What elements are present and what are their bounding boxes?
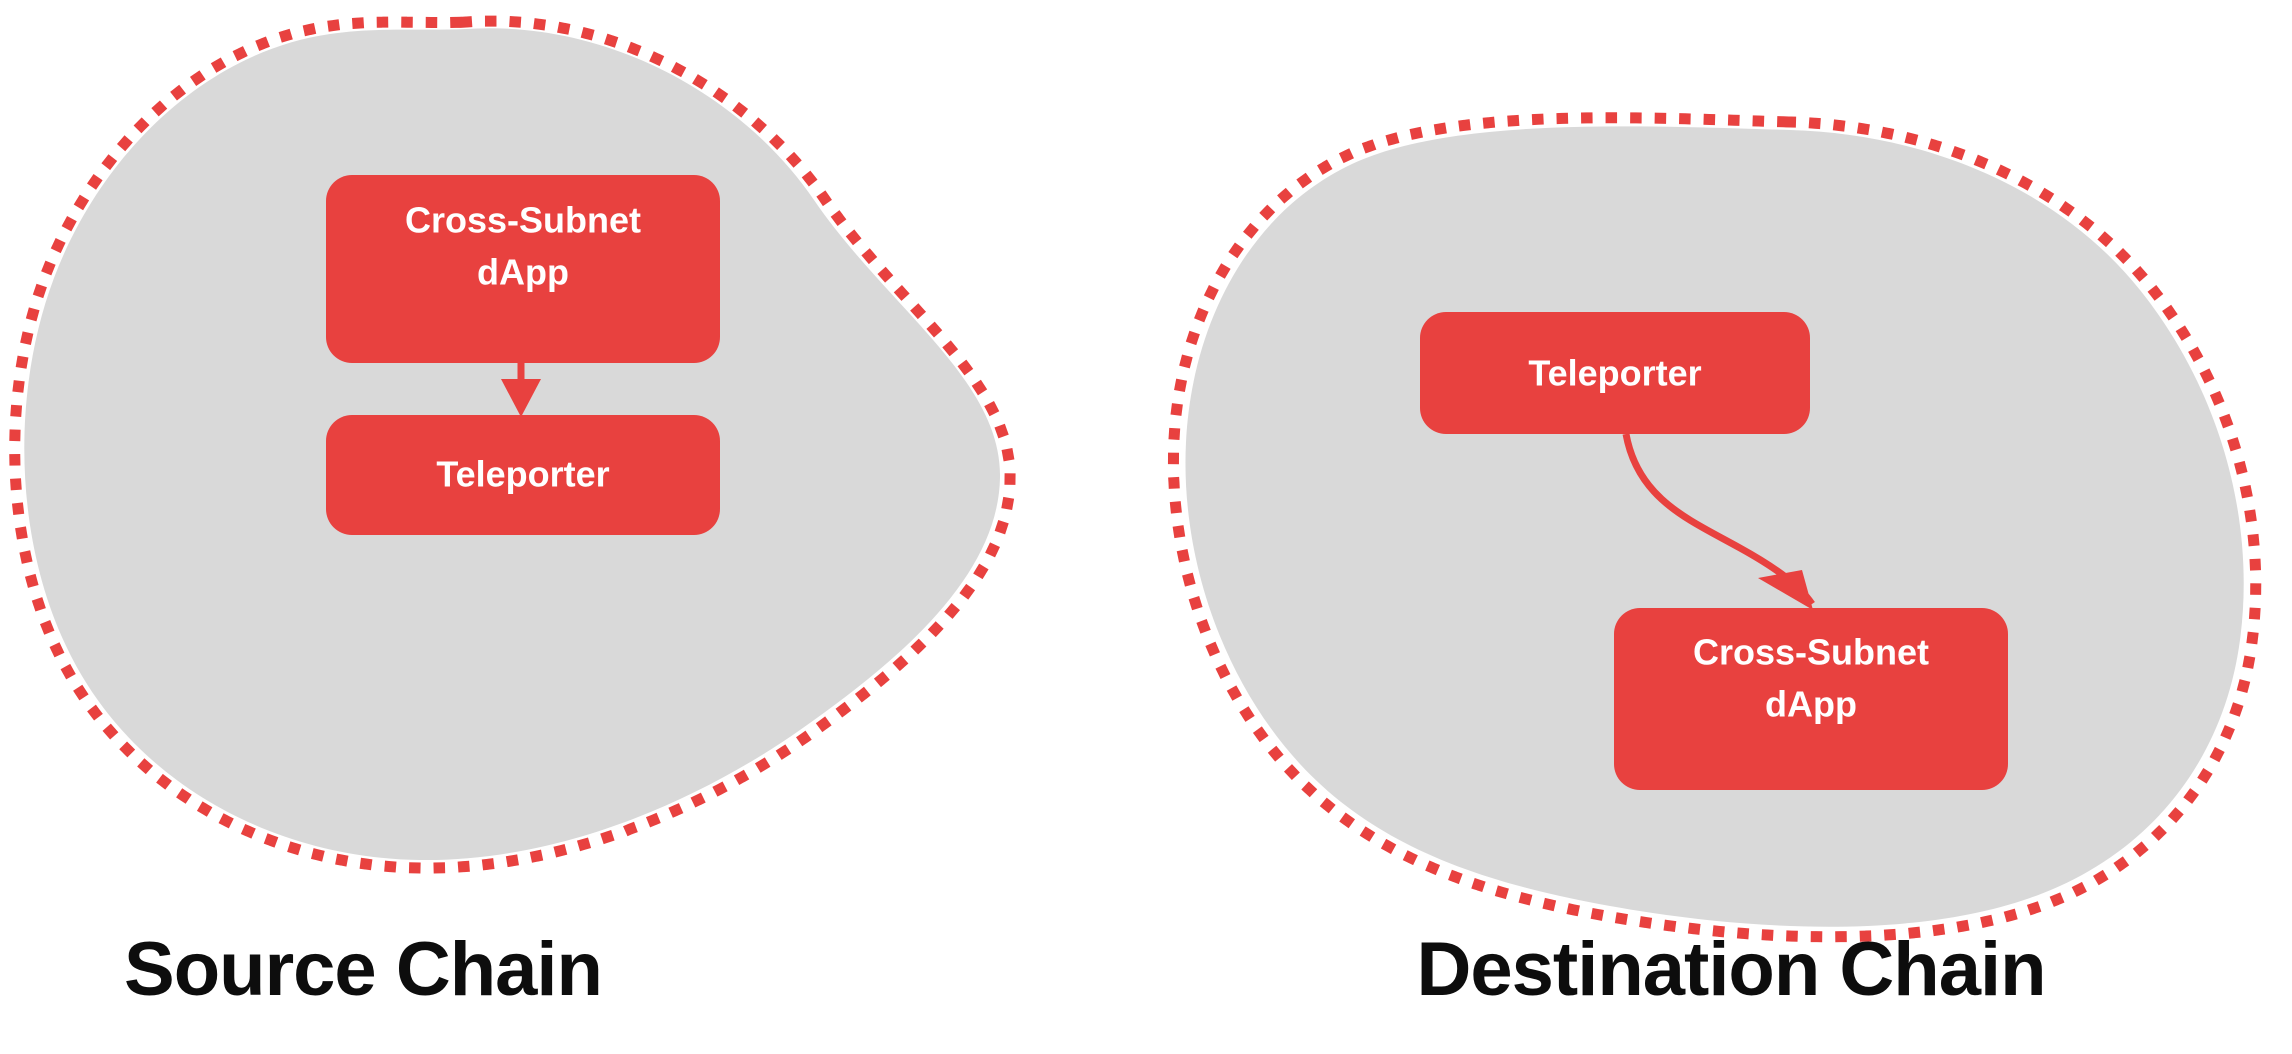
dest-teleporter-label: Teleporter	[1528, 353, 1701, 394]
region-destination-chain: Teleporter Cross-Subnet dApp Destination…	[1173, 118, 2255, 1012]
source-dapp-label-line2: dApp	[477, 252, 569, 293]
diagram-root: Cross-Subnet dApp Teleporter Source Chai…	[0, 0, 2292, 1054]
destination-chain-blob	[1185, 126, 2243, 926]
source-dapp-label-line1: Cross-Subnet	[405, 200, 641, 241]
diagram-canvas: Cross-Subnet dApp Teleporter Source Chai…	[0, 0, 2292, 1054]
node-source-dapp[interactable]: Cross-Subnet dApp	[326, 175, 720, 363]
destination-chain-title: Destination Chain	[1416, 927, 2045, 1012]
region-source-chain: Cross-Subnet dApp Teleporter Source Chai…	[15, 21, 1010, 1012]
node-dest-dapp[interactable]: Cross-Subnet dApp	[1614, 608, 2008, 790]
node-source-teleporter[interactable]: Teleporter	[326, 415, 720, 535]
dest-dapp-label-line2: dApp	[1765, 684, 1857, 725]
node-dest-teleporter[interactable]: Teleporter	[1420, 312, 1810, 434]
source-teleporter-label: Teleporter	[436, 454, 609, 495]
source-chain-title: Source Chain	[124, 927, 602, 1012]
dest-dapp-label-line1: Cross-Subnet	[1693, 632, 1929, 673]
